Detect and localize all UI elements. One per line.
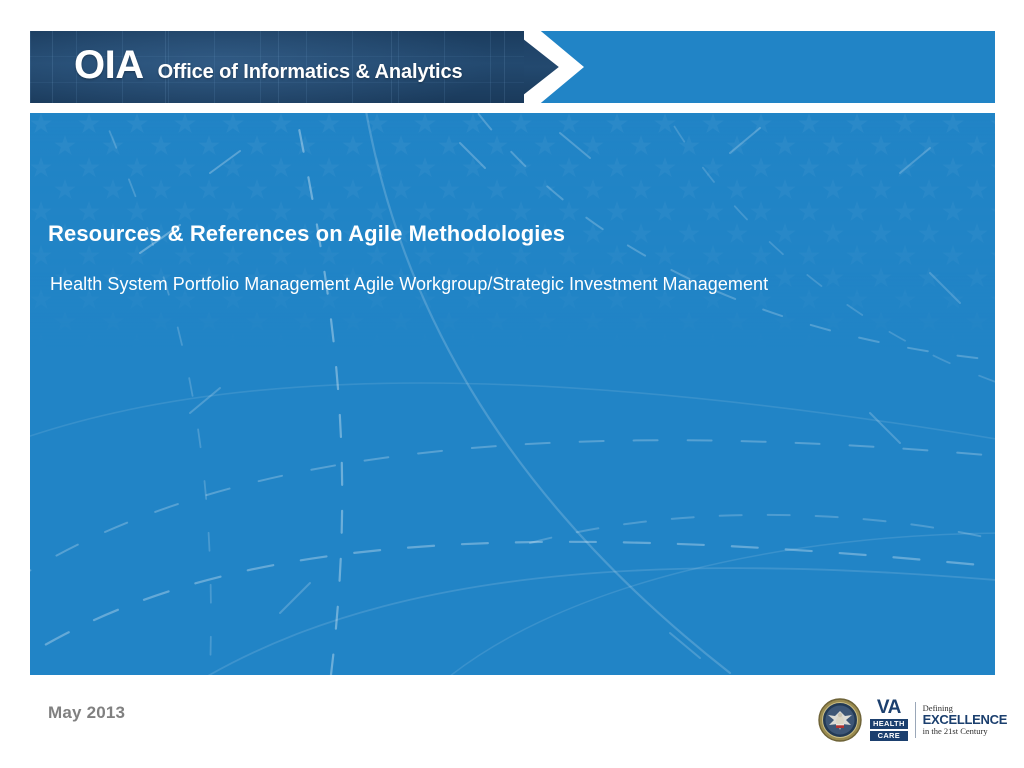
va-tagline-excellence: EXCELLENCE	[923, 713, 1007, 727]
header-band: OIA Office of Informatics & Analytics	[30, 31, 995, 103]
oia-logo-wordmark: Office of Informatics & Analytics	[158, 62, 463, 82]
va-seal-icon	[818, 698, 862, 742]
va-tagline-block: Defining EXCELLENCE in the 21st Century	[923, 700, 1007, 740]
main-content-panel: Resources & References on Agile Methodol…	[30, 113, 995, 675]
va-care-label: CARE	[870, 731, 908, 742]
va-health-care-logo: VA HEALTH CARE Defining EXCELLENCE in th…	[818, 697, 1000, 743]
title-block: Resources & References on Agile Methodol…	[48, 221, 936, 296]
footer-date: May 2013	[48, 703, 125, 723]
arc-pattern-decoration	[30, 113, 995, 675]
page-title: Resources & References on Agile Methodol…	[48, 221, 936, 247]
page-subtitle: Health System Portfolio Management Agile…	[50, 273, 936, 296]
va-health-care-block: VA HEALTH CARE	[870, 700, 915, 740]
va-logo-divider	[915, 702, 916, 738]
oia-logo-mark: OIA	[74, 45, 144, 85]
slide-canvas: OIA Office of Informatics & Analytics	[0, 0, 1024, 768]
va-wordmark: VA HEALTH CARE Defining EXCELLENCE in th…	[870, 700, 1007, 740]
oia-logo: OIA Office of Informatics & Analytics	[74, 45, 463, 85]
va-health-label: HEALTH	[870, 719, 908, 730]
va-initials: VA	[877, 699, 901, 717]
va-tagline-century: in the 21st Century	[923, 727, 1007, 737]
